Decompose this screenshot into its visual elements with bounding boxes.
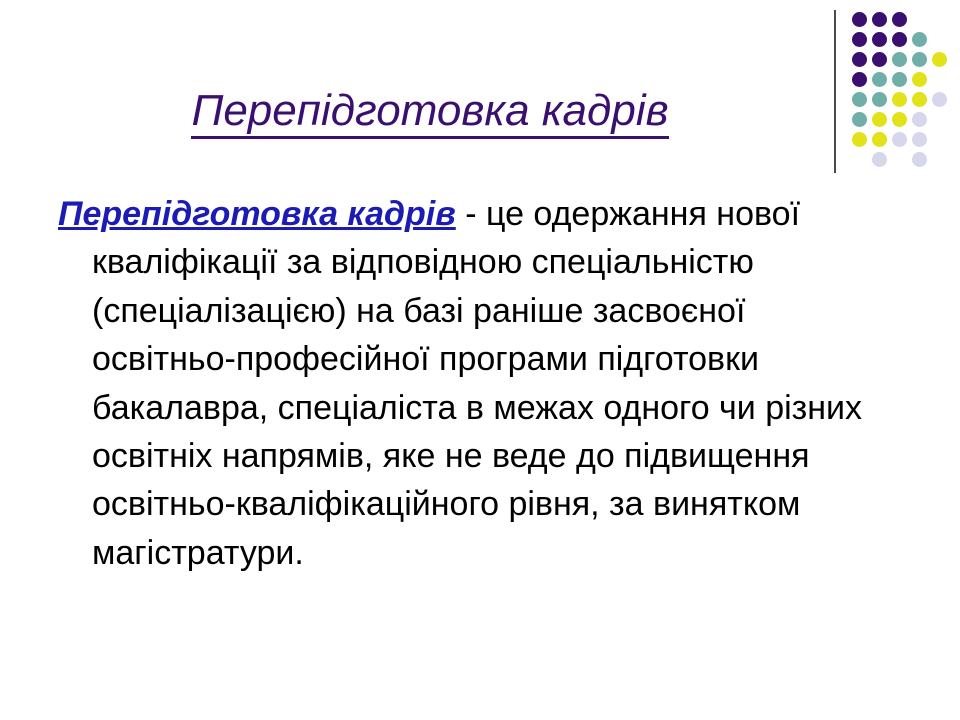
page-title: Перепідготовка кадрів bbox=[60, 88, 800, 134]
dot-matrix-dot bbox=[872, 152, 887, 167]
dot-matrix-dot bbox=[872, 132, 887, 147]
dot-matrix-dot bbox=[912, 112, 927, 127]
dot-matrix-dot bbox=[852, 112, 867, 127]
dot-matrix-dot bbox=[852, 72, 867, 87]
dot-matrix-dot bbox=[932, 92, 947, 107]
dot-matrix-dot bbox=[912, 72, 927, 87]
dot-matrix-dot bbox=[912, 92, 927, 107]
slide-logo-decoration bbox=[822, 0, 960, 180]
definition-text: - це одержання нової кваліфікації за від… bbox=[92, 195, 862, 572]
slide-body: Перепідготовка кадрів - це одержання нов… bbox=[58, 190, 878, 577]
dot-matrix-dot bbox=[852, 52, 867, 67]
dot-matrix-dot bbox=[872, 32, 887, 47]
dot-matrix-dot bbox=[852, 12, 867, 27]
dot-matrix-dot bbox=[852, 32, 867, 47]
dot-matrix-dot bbox=[852, 92, 867, 107]
vertical-divider-line bbox=[834, 10, 836, 173]
dot-matrix-dot bbox=[892, 132, 907, 147]
dot-matrix-dot bbox=[892, 52, 907, 67]
dot-matrix-dot bbox=[912, 132, 927, 147]
dot-matrix-dot bbox=[872, 112, 887, 127]
dot-matrix-dot bbox=[892, 12, 907, 27]
dot-matrix-icon bbox=[852, 12, 960, 172]
dot-matrix-dot bbox=[932, 52, 947, 67]
dot-matrix-dot bbox=[892, 32, 907, 47]
dot-matrix-dot bbox=[872, 12, 887, 27]
slide-canvas: Перепідготовка кадрів Перепідготовка кад… bbox=[0, 0, 960, 720]
dot-matrix-dot bbox=[872, 72, 887, 87]
dot-matrix-dot bbox=[872, 92, 887, 107]
dot-matrix-dot bbox=[892, 72, 907, 87]
dot-matrix-dot bbox=[912, 152, 927, 167]
definition-term: Перепідготовка кадрів bbox=[58, 195, 456, 233]
body-paragraph: Перепідготовка кадрів - це одержання нов… bbox=[58, 190, 878, 577]
dot-matrix-dot bbox=[912, 52, 927, 67]
dot-matrix-dot bbox=[852, 132, 867, 147]
dot-matrix-dot bbox=[892, 92, 907, 107]
page-title-text: Перепідготовка кадрів bbox=[191, 86, 668, 139]
dot-matrix-dot bbox=[912, 32, 927, 47]
dot-matrix-dot bbox=[872, 52, 887, 67]
dot-matrix-dot bbox=[892, 112, 907, 127]
